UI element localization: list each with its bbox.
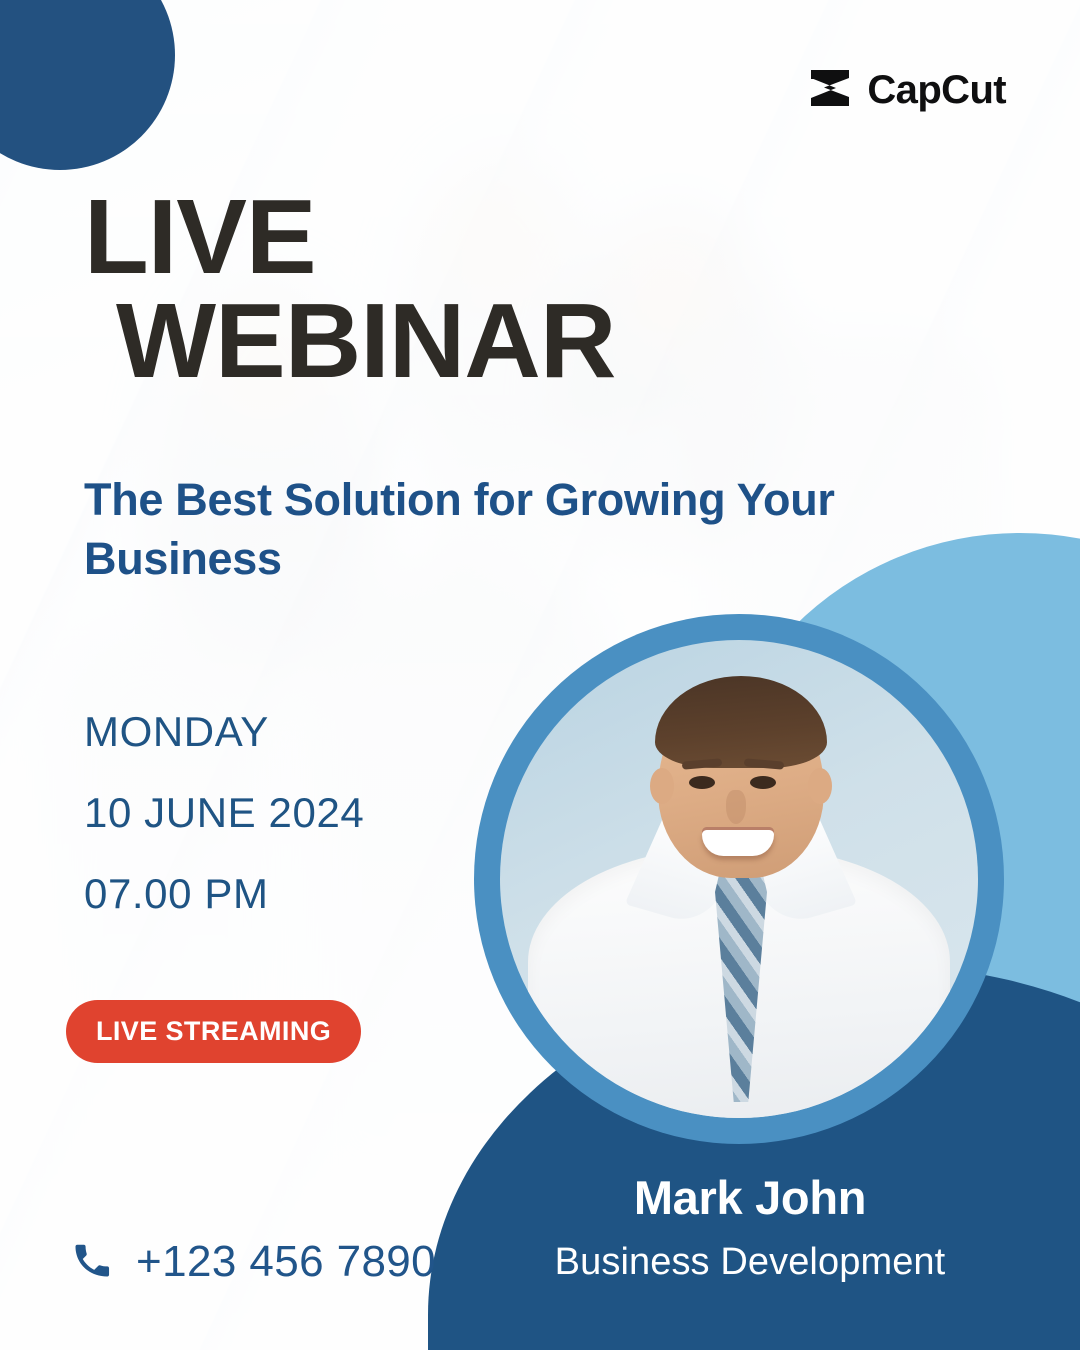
portrait-ear-right	[808, 768, 832, 804]
portrait-nose	[726, 790, 746, 824]
capcut-logo-text: CapCut	[867, 68, 1006, 113]
schedule-date: 10 JUNE 2024	[84, 789, 364, 837]
headline-line-1: LIVE	[84, 178, 316, 296]
schedule-day: MONDAY	[84, 708, 364, 756]
portrait-ear-left	[650, 768, 674, 804]
schedule-block: MONDAY 10 JUNE 2024 07.00 PM	[84, 708, 364, 951]
portrait-hair	[655, 676, 827, 768]
schedule-time: 07.00 PM	[84, 870, 364, 918]
capcut-logo-icon	[807, 68, 853, 113]
live-streaming-badge[interactable]: LIVE STREAMING	[66, 1000, 361, 1063]
portrait-eye-left	[689, 776, 715, 789]
page-title: LIVE WEBINAR	[84, 186, 784, 394]
webinar-poster: CapCut LIVE WEBINAR The Best Solution fo…	[0, 0, 1080, 1350]
speaker-block: Mark John Business Development	[440, 1170, 1060, 1284]
speaker-portrait	[500, 640, 978, 1118]
contact-phone[interactable]: +123 456 7890	[70, 1237, 436, 1287]
portrait-smile	[702, 830, 774, 856]
speaker-name: Mark John	[440, 1170, 1060, 1225]
portrait-eye-right	[750, 776, 776, 789]
speaker-role: Business Development	[440, 1241, 1060, 1284]
phone-number: +123 456 7890	[136, 1237, 436, 1287]
capcut-logo: CapCut	[807, 68, 1006, 113]
headline-line-2: WEBINAR	[116, 290, 784, 394]
subtitle: The Best Solution for Growing Your Busin…	[84, 470, 864, 589]
phone-icon	[70, 1238, 114, 1287]
